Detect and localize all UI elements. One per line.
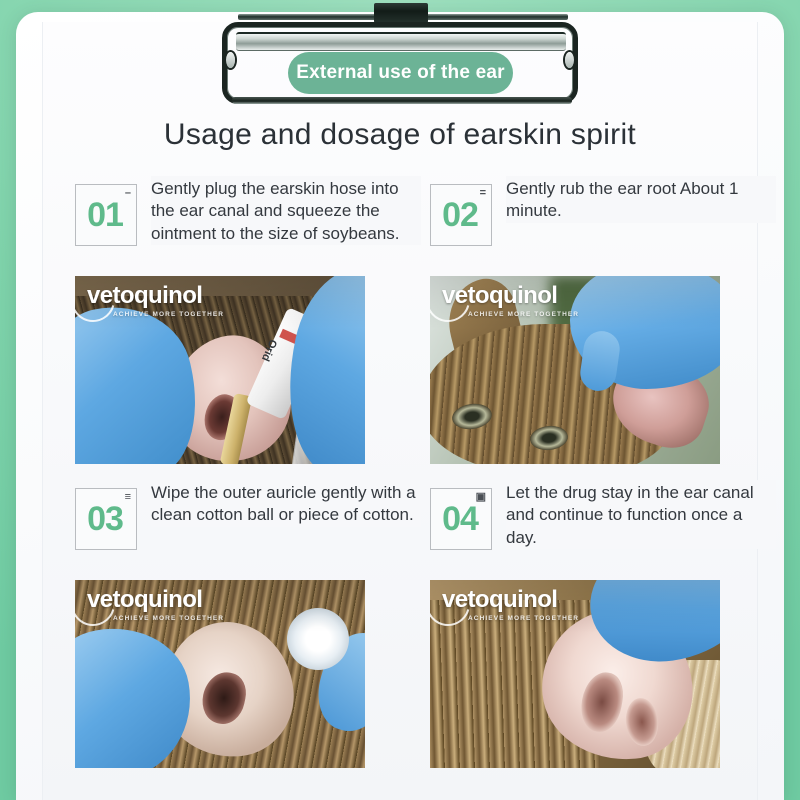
badge-tick-icon: ≡ — [125, 493, 131, 501]
step-header: 03 ≡ Wipe the outer auricle gently with … — [75, 480, 430, 576]
badge-tick-icon: – — [125, 189, 131, 197]
clip-rivet-left — [226, 52, 235, 68]
steps-row-1: 01 – Gently plug the earskin hose into t… — [0, 176, 800, 464]
step-card-01: 01 – Gently plug the earskin hose into t… — [75, 176, 430, 464]
step-number: 01 — [87, 198, 125, 232]
step-photo-01: Orid vetoquinol ACHIEVE MORE TOGETHER — [75, 276, 365, 464]
logo-wordmark: vetoquinol — [442, 588, 579, 612]
step-number: 04 — [442, 502, 480, 536]
logo-tagline: ACHIEVE MORE TOGETHER — [113, 311, 224, 318]
step-description: Gently plug the earskin hose into the ea… — [151, 176, 421, 245]
logo-wordmark: vetoquinol — [87, 588, 224, 612]
step-photo-03: vetoquinol ACHIEVE MORE TOGETHER — [75, 580, 365, 768]
step-card-02: 02 = Gently rub the ear root About 1 min… — [430, 176, 785, 464]
step-number: 02 — [442, 198, 480, 232]
vetoquinol-logo: vetoquinol ACHIEVE MORE TOGETHER — [442, 284, 579, 318]
badge-tick-icon: ▣ — [476, 493, 486, 501]
clip-rail — [236, 32, 566, 51]
badge-tick-icon: = — [480, 189, 486, 197]
step-header: 02 = Gently rub the ear root About 1 min… — [430, 176, 785, 272]
clip-rivet-right — [565, 52, 574, 68]
vetoquinol-logo: vetoquinol ACHIEVE MORE TOGETHER — [87, 588, 224, 622]
step-card-04: 04 ▣ Let the drug stay in the ear canal … — [430, 480, 785, 768]
logo-tagline: ACHIEVE MORE TOGETHER — [468, 615, 579, 622]
vetoquinol-logo: vetoquinol ACHIEVE MORE TOGETHER — [87, 284, 224, 318]
step-number: 03 — [87, 502, 125, 536]
vetoquinol-logo: vetoquinol ACHIEVE MORE TOGETHER — [442, 588, 579, 622]
step-photo-04: vetoquinol ACHIEVE MORE TOGETHER — [430, 580, 720, 768]
step-header: 04 ▣ Let the drug stay in the ear canal … — [430, 480, 785, 576]
banner-pill: External use of the ear — [288, 52, 513, 94]
step-description: Gently rub the ear root About 1 minute. — [506, 176, 776, 223]
step-description: Wipe the outer auricle gently with a cle… — [151, 480, 421, 527]
page-title: Usage and dosage of earskin spirit — [0, 118, 800, 152]
step-badge-01: 01 – — [75, 184, 137, 246]
step-header: 01 – Gently plug the earskin hose into t… — [75, 176, 430, 272]
step-badge-04: 04 ▣ — [430, 488, 492, 550]
logo-wordmark: vetoquinol — [442, 284, 579, 308]
logo-wordmark: vetoquinol — [87, 284, 224, 308]
steps-row-2: 03 ≡ Wipe the outer auricle gently with … — [0, 480, 800, 768]
step-badge-03: 03 ≡ — [75, 488, 137, 550]
steps-grid: 01 – Gently plug the earskin hose into t… — [0, 176, 800, 768]
clip-bottom-bar — [232, 97, 572, 104]
step-photo-02: vetoquinol ACHIEVE MORE TOGETHER — [430, 276, 720, 464]
step-description: Let the drug stay in the ear canal and c… — [506, 480, 776, 549]
step-card-03: 03 ≡ Wipe the outer auricle gently with … — [75, 480, 430, 768]
logo-tagline: ACHIEVE MORE TOGETHER — [468, 311, 579, 318]
step-badge-02: 02 = — [430, 184, 492, 246]
logo-tagline: ACHIEVE MORE TOGETHER — [113, 615, 224, 622]
clip-tab[interactable] — [374, 3, 428, 23]
